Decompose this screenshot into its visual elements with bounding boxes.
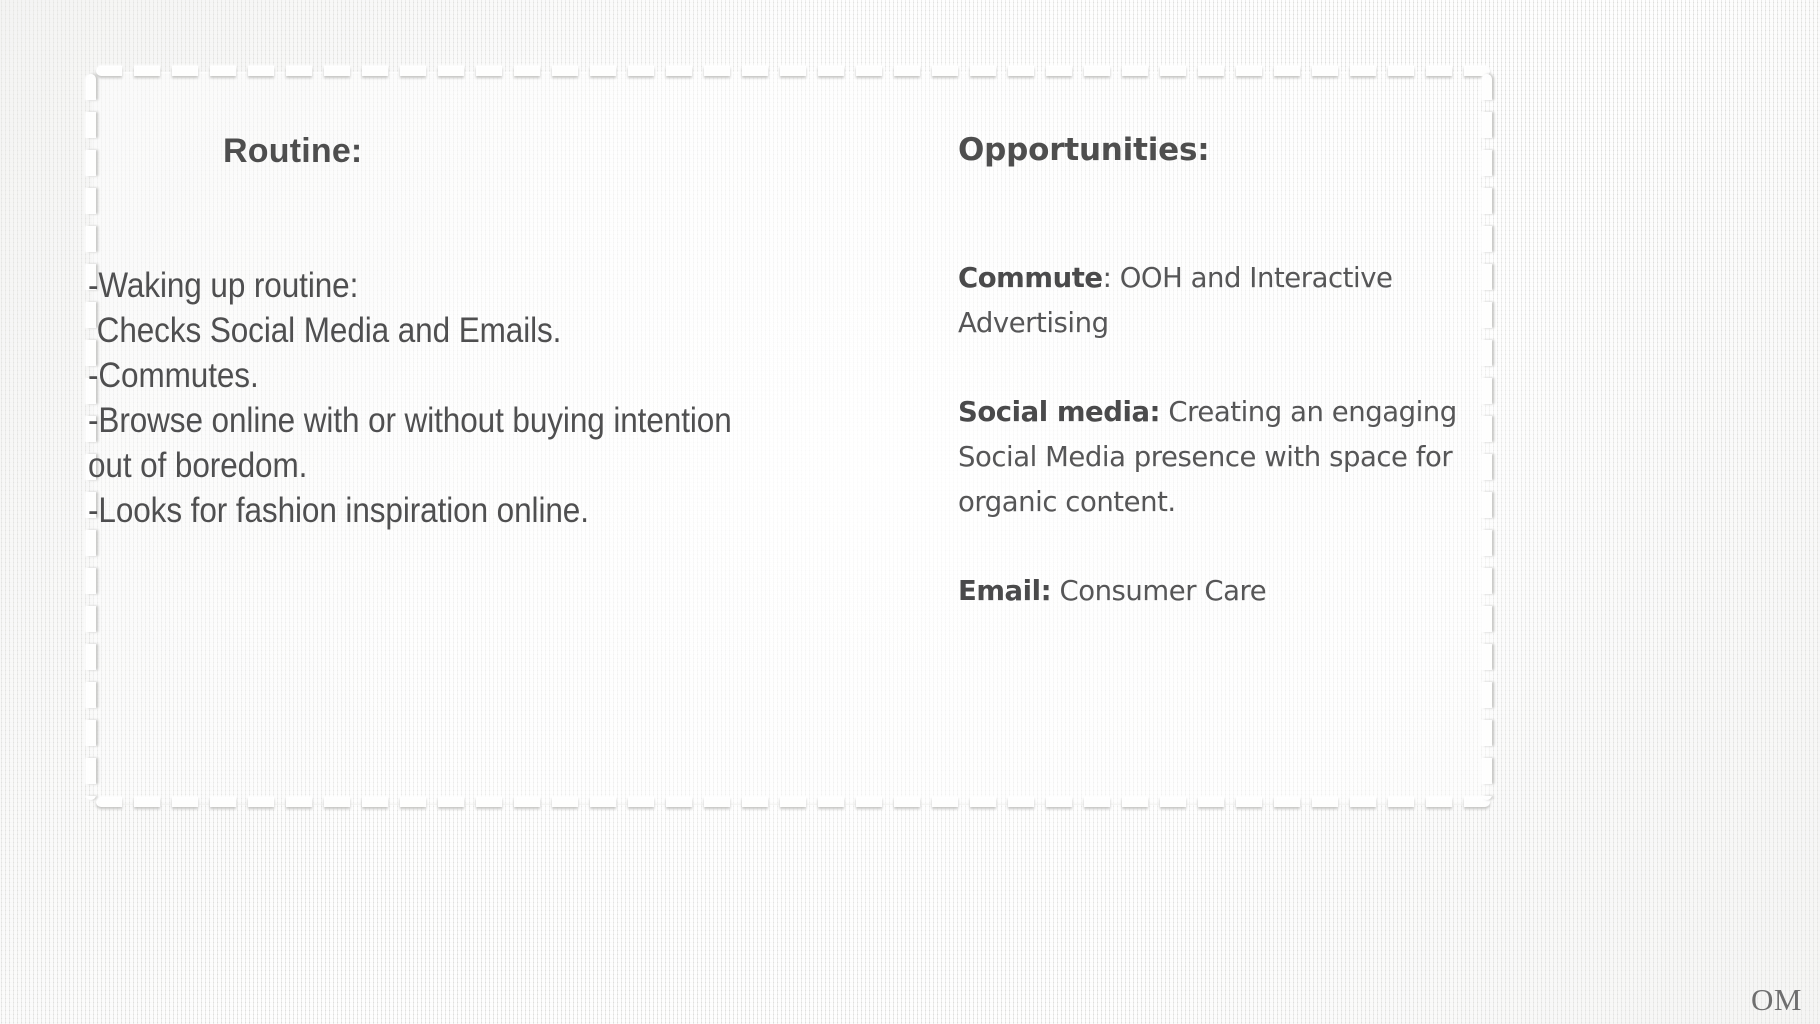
slide-content: Routine: -Waking up routine: Checks Soci…	[0, 0, 1820, 1024]
opportunity-lead-commute: Commute	[958, 262, 1103, 294]
opportunities-heading: Opportunities:	[958, 132, 1478, 168]
slide-canvas: Routine: -Waking up routine: Checks Soci…	[0, 0, 1820, 1024]
opportunity-lead-social-media: Social media:	[958, 396, 1160, 428]
routine-heading: Routine:	[88, 132, 908, 171]
opportunity-item-email: Email: Consumer Care	[958, 569, 1478, 614]
routine-body-text: -Waking up routine: Checks Social Media …	[88, 263, 826, 533]
opportunities-column: Opportunities: Commute: OOH and Interact…	[958, 132, 1478, 614]
om-monogram-watermark: OM	[1751, 982, 1802, 1018]
opportunity-lead-email: Email:	[958, 575, 1051, 607]
routine-column: Routine: -Waking up routine: Checks Soci…	[88, 132, 908, 533]
opportunity-item-social-media: Social media: Creating an engaging Socia…	[958, 390, 1478, 525]
opportunity-text-email: Consumer Care	[1051, 575, 1266, 607]
opportunity-item-commute: Commute: OOH and Interactive Advertising	[958, 256, 1478, 346]
